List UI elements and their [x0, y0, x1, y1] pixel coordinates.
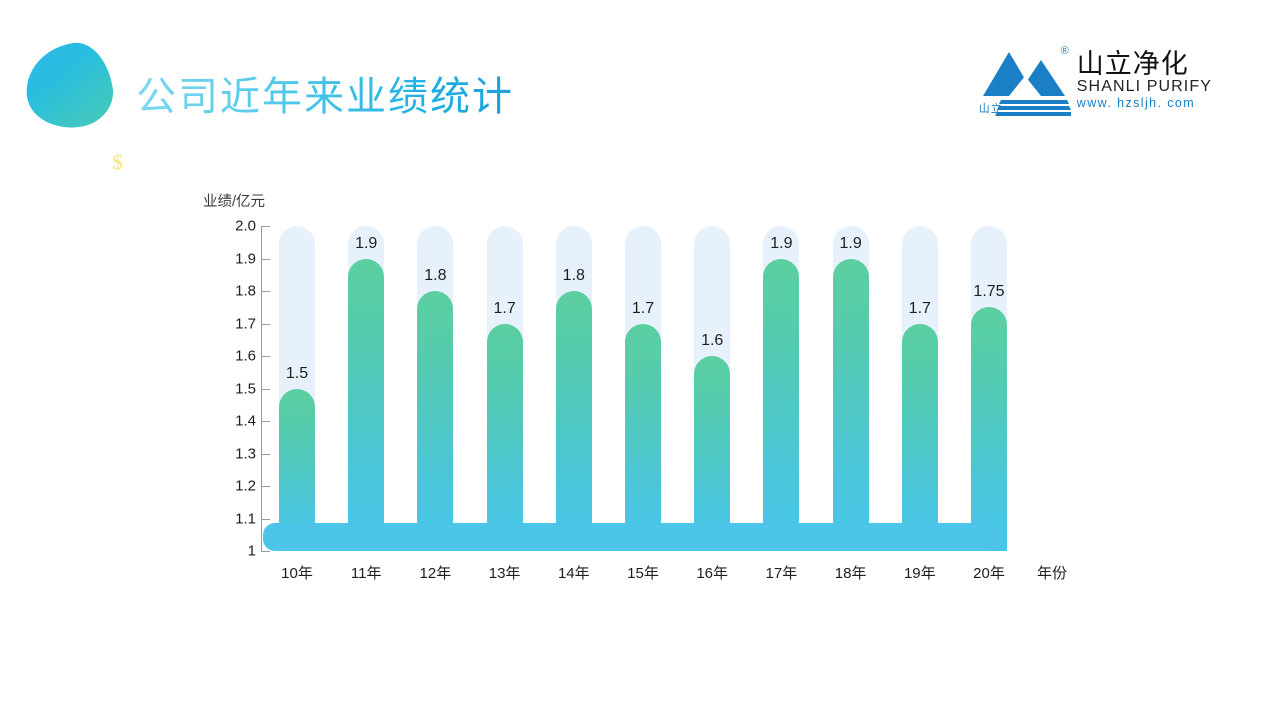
y-axis-tick-label: 2.0 [198, 218, 256, 235]
x-axis-tick-label: 10年 [262, 562, 332, 583]
y-axis-tick-mark [261, 389, 270, 390]
y-axis-tick-mark [261, 551, 270, 552]
y-axis-title: 业绩/亿元 [203, 190, 265, 211]
logo-company-name-en: SHANLI PURIFY [1077, 78, 1212, 96]
x-axis-tick-label: 18年 [816, 562, 886, 583]
bar-value-label: 1.6 [682, 332, 742, 350]
y-axis-tick-mark [261, 226, 270, 227]
y-axis-tick-label: 1.3 [198, 445, 256, 462]
bar[interactable] [417, 291, 453, 551]
y-axis-tick-mark [261, 259, 270, 260]
y-axis-tick-mark [261, 356, 270, 357]
shanli-mountain-icon: ® 山立 [979, 46, 1071, 118]
x-axis-tick-label: 16年 [677, 562, 747, 583]
y-axis-tick-label: 1.8 [198, 283, 256, 300]
bar-value-label: 1.5 [267, 365, 327, 383]
bar-value-label: 1.9 [751, 235, 811, 253]
bar[interactable] [902, 324, 938, 552]
bar[interactable] [971, 307, 1007, 551]
bar[interactable] [833, 259, 869, 552]
x-axis-tick-label: 15年 [608, 562, 678, 583]
y-axis-tick-label: 1.5 [198, 380, 256, 397]
y-axis-tick-label: 1.6 [198, 348, 256, 365]
y-axis-tick-label: 1.4 [198, 413, 256, 430]
bar-track [625, 226, 661, 551]
decorative-blob-shape [21, 38, 118, 133]
bar[interactable] [763, 259, 799, 552]
logo-text-block: 山立净化 SHANLI PURIFY www. hzsljh. com [1077, 46, 1212, 112]
logo-website-url: www. hzsljh. com [1077, 96, 1212, 112]
y-axis-tick-label: 1.9 [198, 250, 256, 267]
bar-value-label: 1.7 [475, 300, 535, 318]
bar[interactable] [556, 291, 592, 551]
x-axis-tick-label: 12年 [400, 562, 470, 583]
bar[interactable] [348, 259, 384, 552]
y-axis-tick-mark [261, 519, 270, 520]
bar-value-label: 1.8 [544, 267, 604, 285]
y-axis-tick-mark [261, 324, 270, 325]
bar-track [487, 226, 523, 551]
x-axis-tick-label: 19年 [885, 562, 955, 583]
bar-track [763, 226, 799, 551]
bar[interactable] [694, 356, 730, 551]
x-axis-tick-label: 17年 [746, 562, 816, 583]
bar-track [279, 226, 315, 551]
y-axis-tick-mark [261, 486, 270, 487]
bar-track [971, 226, 1007, 551]
x-axis-tick-label: 20年 [954, 562, 1024, 583]
y-axis-tick-label: 1.2 [198, 478, 256, 495]
y-axis-tick-label: 1.7 [198, 315, 256, 332]
bar-track [417, 226, 453, 551]
bar[interactable] [487, 324, 523, 552]
bar-track [694, 226, 730, 551]
bar-value-label: 1.9 [821, 235, 881, 253]
bar[interactable] [625, 324, 661, 552]
bar-value-label: 1.9 [336, 235, 396, 253]
logo-mark-caption: 山立 [979, 100, 1003, 116]
bar-track [902, 226, 938, 551]
company-logo: ® 山立 山立净化 SHANLI PURIFY www. hzsljh. com [979, 46, 1212, 118]
x-axis-tick-label: 13年 [470, 562, 540, 583]
bar[interactable] [279, 389, 315, 552]
bar-value-label: 1.75 [959, 283, 1019, 301]
x-axis-tick-label: 11年 [331, 562, 401, 583]
logo-company-name-cn: 山立净化 [1077, 50, 1212, 78]
bar-value-label: 1.7 [613, 300, 673, 318]
dollar-sign-glyph: $ [112, 152, 123, 173]
chart-base-bar [263, 523, 1000, 551]
y-axis-tick-mark [261, 454, 270, 455]
x-axis-title: 年份 [1037, 562, 1067, 583]
bar-track [833, 226, 869, 551]
bar-track [556, 226, 592, 551]
registered-trademark-icon: ® [1061, 46, 1069, 57]
bar-value-label: 1.7 [890, 300, 950, 318]
slide-canvas: $ 公司近年来业绩统计 ® 山立 山立净化 SHANLI PURIFY www.… [0, 0, 1280, 720]
bar-track [348, 226, 384, 551]
y-axis-tick-mark [261, 421, 270, 422]
y-axis-tick-mark [261, 291, 270, 292]
bar-value-label: 1.8 [405, 267, 465, 285]
coin-icon: $ [101, 146, 134, 179]
y-axis-tick-label: 1 [198, 543, 256, 560]
page-title: 公司近年来业绩统计 [136, 64, 514, 122]
y-axis-line [261, 226, 262, 552]
y-axis-tick-label: 1.1 [198, 510, 256, 527]
x-axis-tick-label: 14年 [539, 562, 609, 583]
